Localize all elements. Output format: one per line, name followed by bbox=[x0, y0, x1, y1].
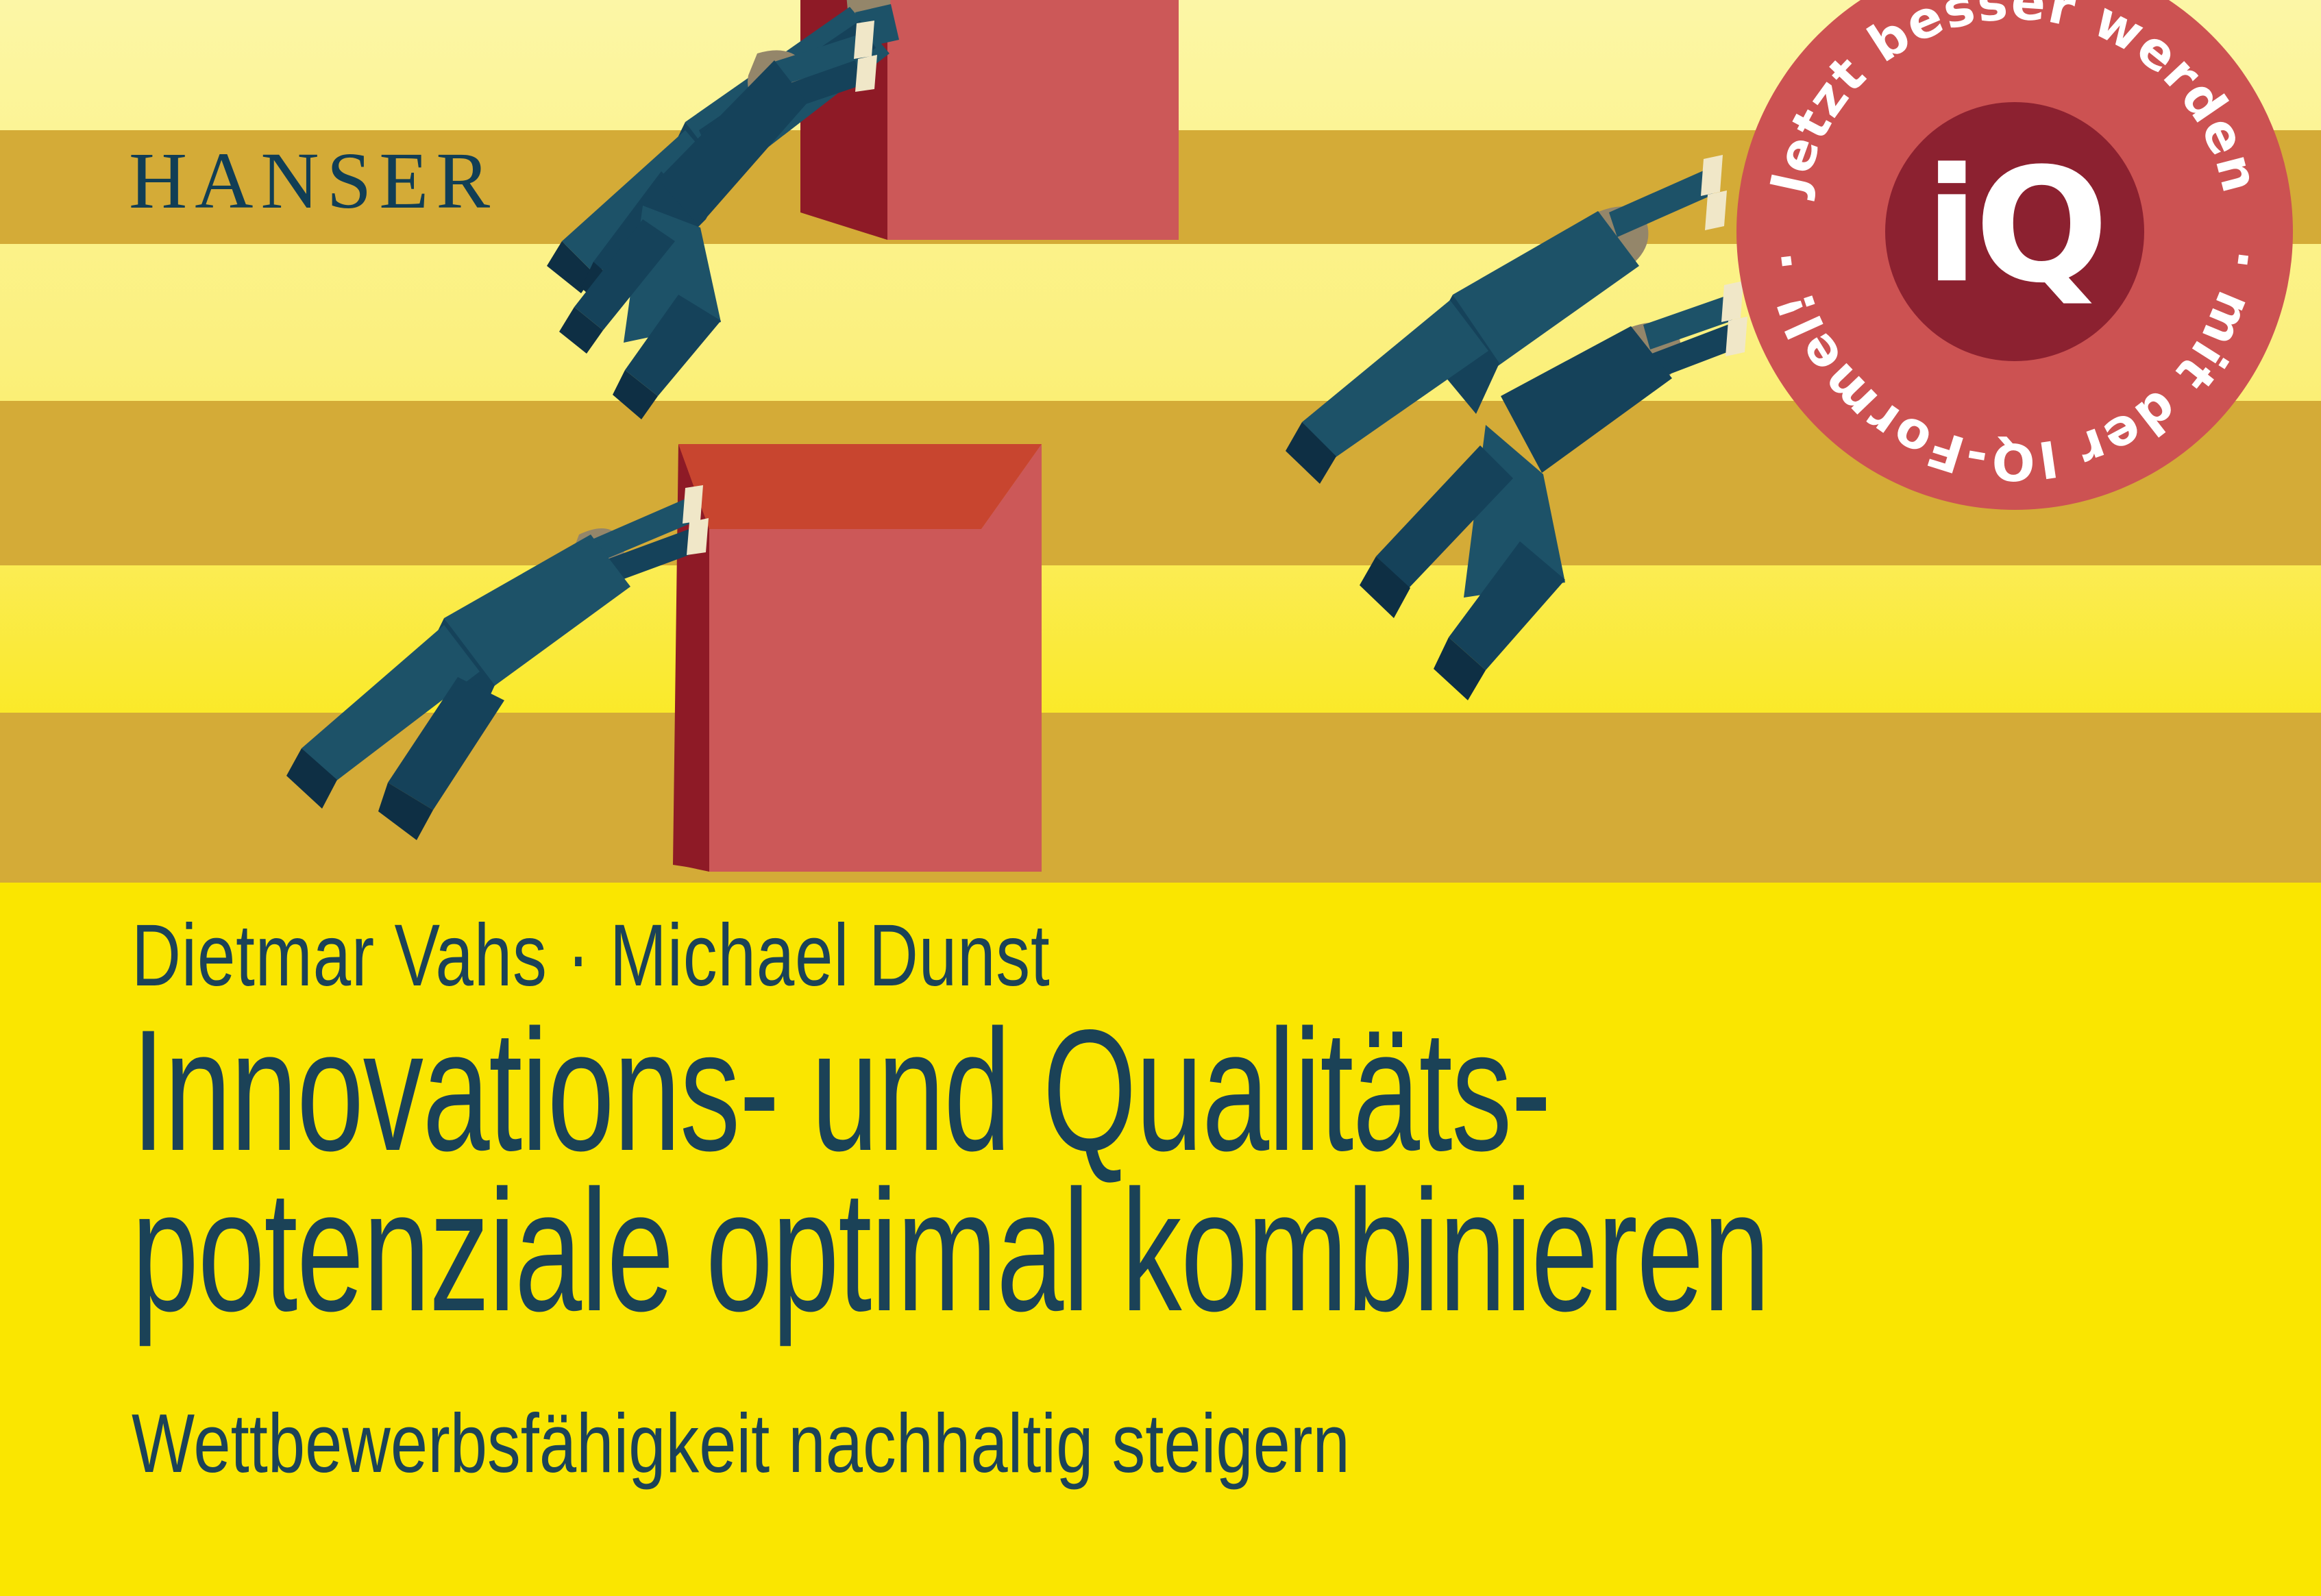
badge-inner-circle: iQ bbox=[1885, 102, 2144, 361]
figure-center bbox=[286, 485, 709, 840]
book-cover: HANSER Jetzt besser werden mit der IQ-Fo… bbox=[0, 0, 2321, 1596]
authors-line: Dietmar Vahs · Michael Dunst bbox=[132, 905, 1051, 1006]
title-line-1: Innovations- und Qualitäts- bbox=[132, 1005, 1550, 1177]
iq-logo: iQ bbox=[1925, 148, 2104, 306]
iq-badge[interactable]: Jetzt besser werden mit der IQ-Formel! ·… bbox=[1736, 0, 2293, 510]
cube-right-base bbox=[1736, 713, 2321, 883]
publisher-logo: HANSER bbox=[129, 140, 498, 221]
subtitle-line: Wettbewerbsfähigkeit nachhaltig steigern bbox=[132, 1395, 1350, 1491]
cube-center-top-face bbox=[678, 444, 1042, 529]
cover-illustration: HANSER Jetzt besser werden mit der IQ-Fo… bbox=[0, 0, 2321, 883]
title-line-2: potenziale optimal kombinieren bbox=[132, 1165, 1769, 1338]
badge-sep-left: · bbox=[2212, 247, 2273, 275]
badge-sep-right: · bbox=[1756, 247, 1817, 275]
